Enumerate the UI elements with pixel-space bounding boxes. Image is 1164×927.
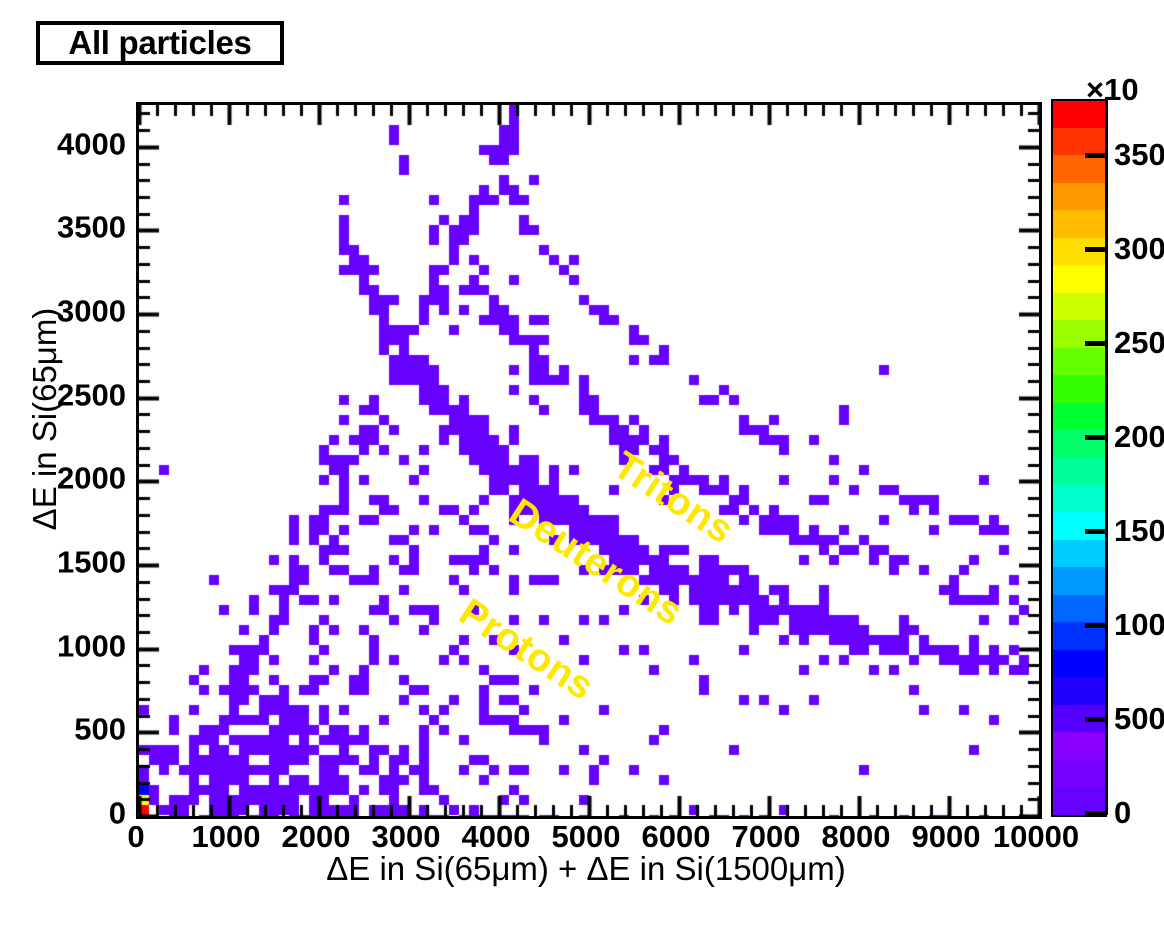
x-tick-label: 1000	[192, 821, 261, 852]
palette-exponent-label: ×10	[1086, 72, 1139, 108]
x-tick-label: 4000	[462, 821, 531, 852]
palette-tick	[1085, 153, 1105, 158]
y-tick-label: 1500	[57, 547, 126, 578]
y-axis-title: ΔE in Si(65μm)	[26, 69, 64, 769]
x-tick-label: 9000	[912, 821, 981, 852]
palette-tick	[1085, 717, 1105, 722]
palette-tick-label: 250	[1114, 325, 1164, 361]
x-tick-label: 2000	[282, 821, 351, 852]
x-tick-label: 8000	[822, 821, 891, 852]
palette-tick	[1085, 341, 1105, 346]
palette-tick-label: 500	[1114, 701, 1164, 737]
palette-tick-label: 300	[1114, 231, 1164, 267]
y-tick-label: 0	[109, 798, 126, 829]
palette-tick	[1085, 435, 1105, 440]
palette-tick	[1085, 529, 1105, 534]
palette-axis-line	[1105, 97, 1108, 815]
x-tick-label: 5000	[552, 821, 621, 852]
x-tick-label: 6000	[642, 821, 711, 852]
palette-tick-label: 0	[1114, 795, 1131, 831]
y-tick-label: 2000	[57, 463, 126, 494]
y-tick-label: 4000	[57, 128, 126, 159]
y-tick-label: 2500	[57, 379, 126, 410]
plot-root: All particles 01000200030004000500060007…	[0, 0, 1164, 927]
color-palette	[1051, 99, 1107, 817]
x-tick-label: 3000	[372, 821, 441, 852]
y-tick-label: 3500	[57, 212, 126, 243]
palette-tick	[1085, 811, 1105, 816]
palette-gradient	[1053, 101, 1105, 815]
y-tick-label: 500	[74, 714, 126, 745]
palette-tick-label: 350	[1114, 137, 1164, 173]
page-title: All particles	[40, 25, 280, 61]
palette-tick	[1085, 247, 1105, 252]
plot-frame	[136, 102, 1042, 819]
y-tick-label: 3000	[57, 296, 126, 327]
x-tick-label: 0	[127, 821, 144, 852]
palette-tick-label: 100	[1114, 607, 1164, 643]
x-tick-label: 7000	[732, 821, 801, 852]
x-axis-title: ΔE in Si(65μm) + ΔE in Si(1500μm)	[136, 850, 1036, 888]
y-tick-label: 1000	[57, 630, 126, 661]
x-tick-label: 10000	[993, 821, 1079, 852]
palette-tick	[1085, 623, 1105, 628]
histogram-canvas	[139, 105, 1039, 816]
palette-tick-label: 150	[1114, 513, 1164, 549]
title-box: All particles	[36, 21, 284, 65]
palette-tick-label: 200	[1114, 419, 1164, 455]
